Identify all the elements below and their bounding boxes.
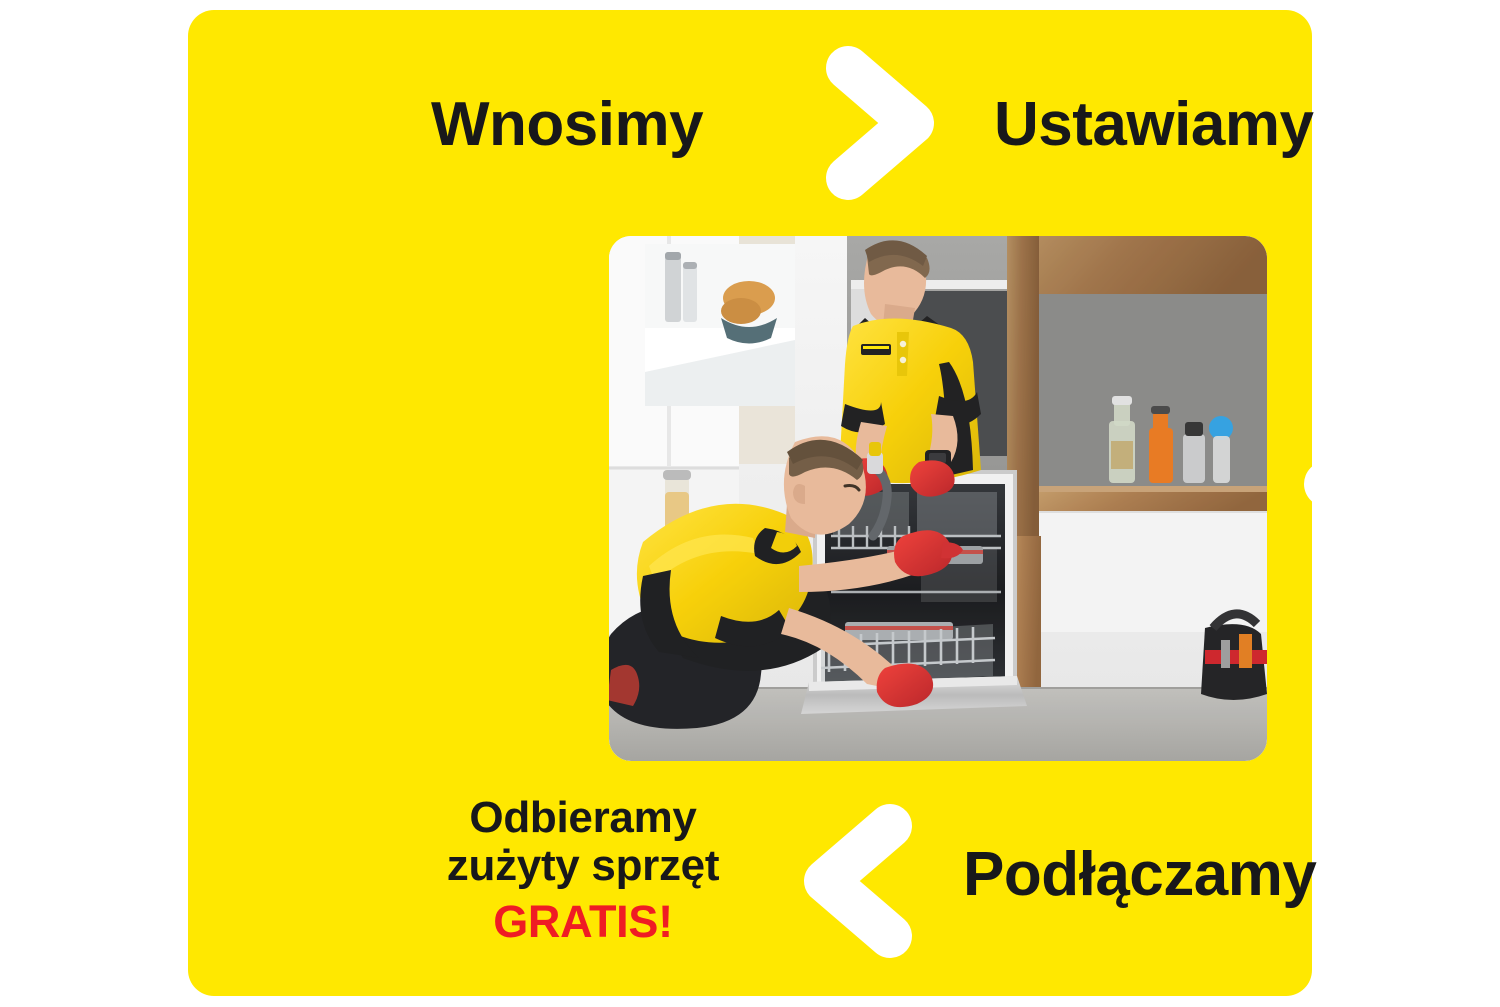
pickup-line-1: Odbieramy bbox=[383, 794, 783, 842]
step-label-wnosimy: Wnosimy bbox=[431, 94, 703, 156]
pickup-line-2: zużyty sprzęt bbox=[383, 842, 783, 890]
chevron-right-icon bbox=[824, 44, 936, 202]
poster-canvas: Wnosimy Ustawiamy Podłączamy Odbieramy z… bbox=[0, 0, 1500, 1007]
step-label-podlaczamy: Podłączamy bbox=[963, 844, 1316, 906]
chevron-left-icon bbox=[802, 802, 914, 960]
photo-illustration bbox=[609, 236, 1267, 761]
installation-photo bbox=[609, 236, 1267, 761]
pickup-offer-block: Odbieramy zużyty sprzęt GRATIS! bbox=[383, 794, 783, 946]
step-label-ustawiamy: Ustawiamy bbox=[994, 94, 1313, 156]
yellow-banner-card: Wnosimy Ustawiamy Podłączamy Odbieramy z… bbox=[188, 10, 1312, 996]
chevron-down-icon bbox=[1302, 459, 1478, 571]
pickup-line-free: GRATIS! bbox=[383, 897, 783, 947]
